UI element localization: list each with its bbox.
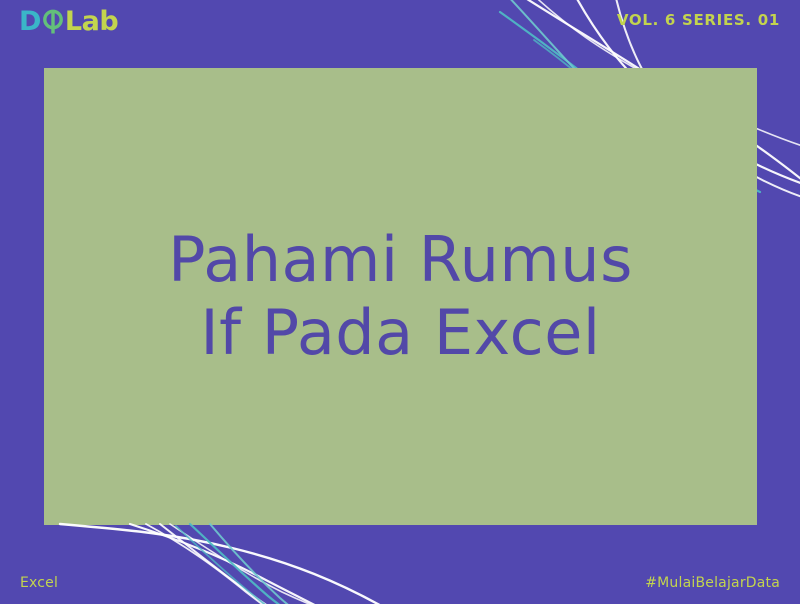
footer-hashtag-label: #MulaiBelajarData [645, 575, 780, 591]
logo-q-icon [41, 8, 65, 35]
title-line-1: Pahami Rumus [168, 224, 633, 297]
logo-letter-d: D [19, 8, 41, 35]
title-block: Pahami Rumus If Pada Excel [44, 68, 757, 525]
logo-text-lab: Lab [65, 8, 118, 35]
dqlab-logo[interactable]: D Lab [19, 8, 118, 35]
footer-category-label: Excel [20, 575, 58, 591]
slide-canvas: Pahami Rumus If Pada Excel D Lab VOL. 6 … [0, 0, 800, 604]
title-line-2: If Pada Excel [200, 297, 600, 370]
volume-series-label: VOL. 6 SERIES. 01 [617, 11, 780, 29]
